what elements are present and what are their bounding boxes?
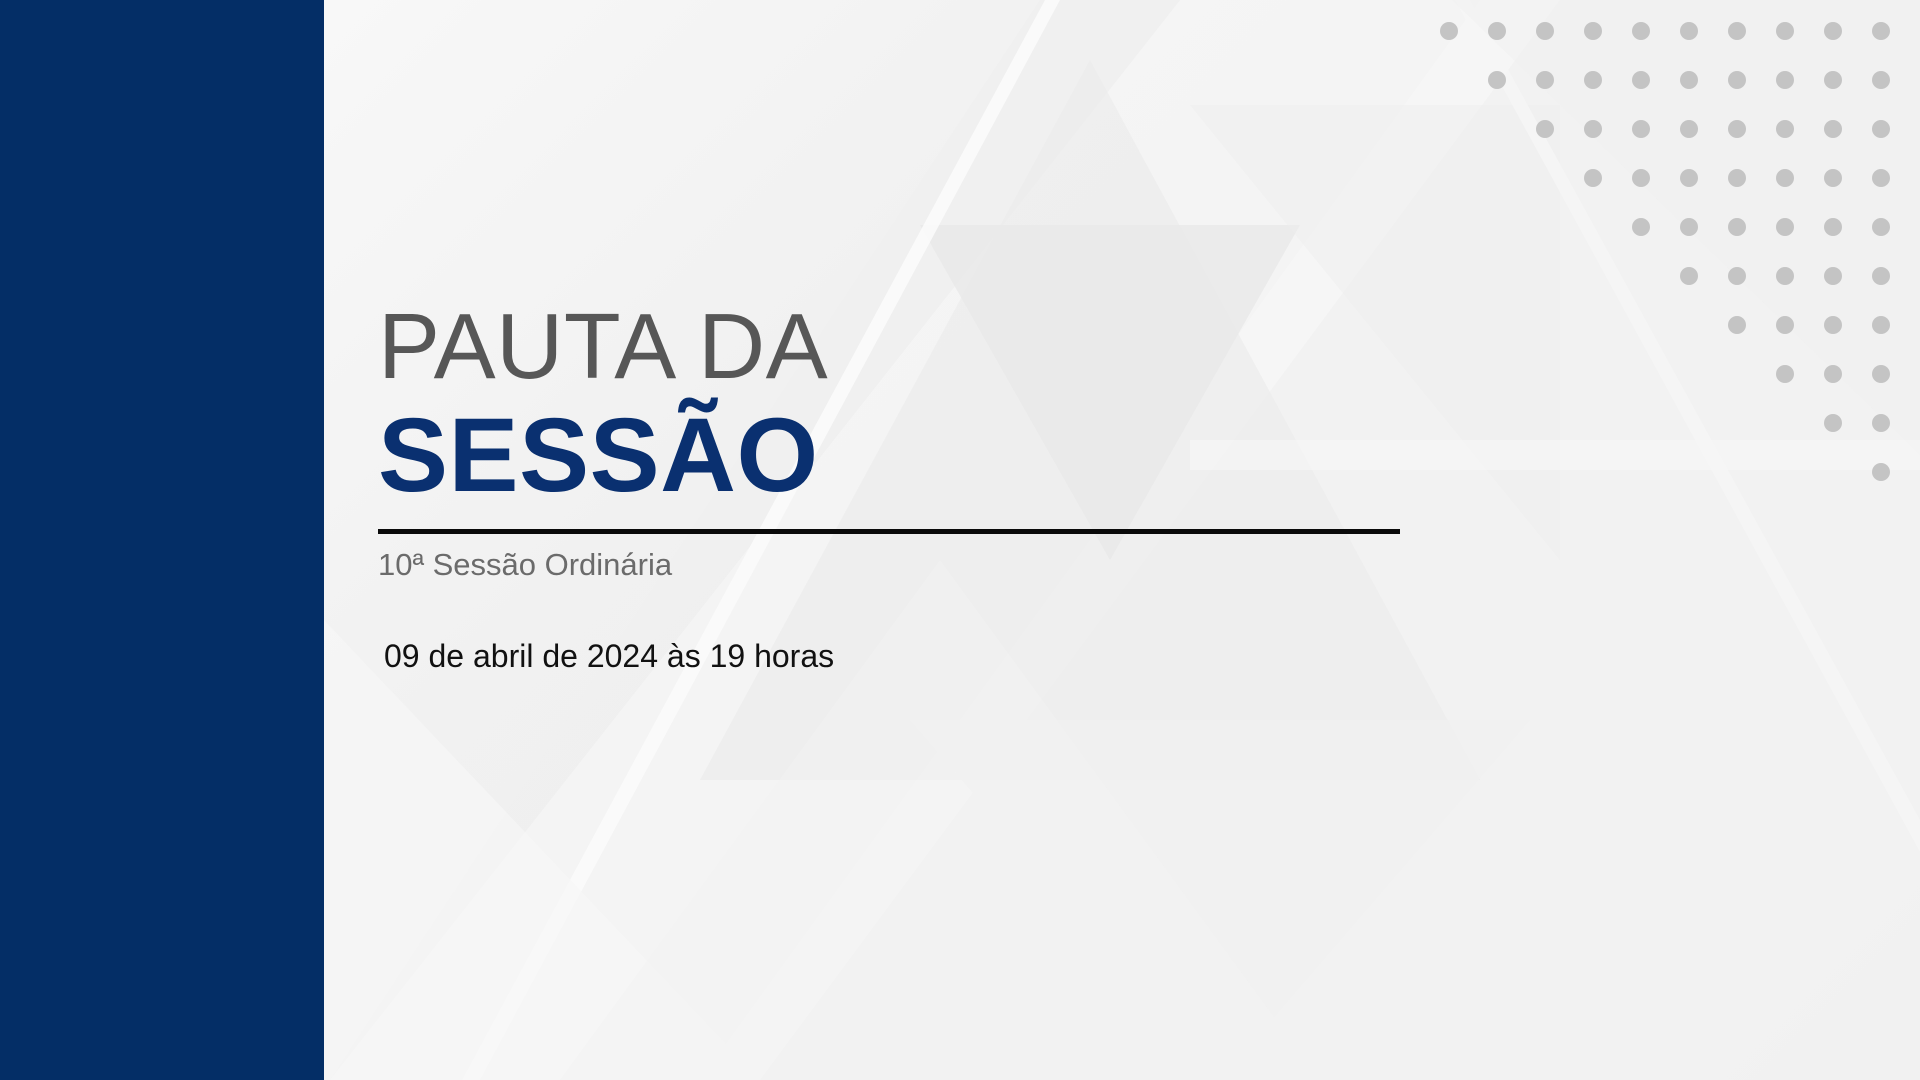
dot-grid-dot — [1728, 316, 1746, 334]
dot-grid-dot — [1872, 463, 1890, 481]
dot-grid-dot — [1728, 218, 1746, 236]
dot-grid-dot — [1824, 316, 1842, 334]
dot-grid-dot — [1728, 267, 1746, 285]
left-accent-bar — [0, 0, 324, 1080]
dot-grid-dot — [1872, 218, 1890, 236]
dot-grid-dot — [1824, 169, 1842, 187]
session-subtitle: 10ª Sessão Ordinária — [378, 546, 1438, 583]
dot-grid-dot — [1872, 71, 1890, 89]
dot-grid-dot — [1776, 316, 1794, 334]
dot-grid-dot — [1872, 316, 1890, 334]
dot-grid-dot — [1632, 22, 1650, 40]
dot-grid-dot — [1872, 22, 1890, 40]
dot-grid-dot — [1776, 71, 1794, 89]
dot-grid-dot — [1728, 169, 1746, 187]
dot-grid-dot — [1824, 414, 1842, 432]
dot-grid-dot — [1584, 71, 1602, 89]
dot-grid-dot — [1776, 120, 1794, 138]
dot-grid-dot — [1776, 218, 1794, 236]
dot-grid-dot — [1872, 414, 1890, 432]
dot-grid-dot — [1872, 120, 1890, 138]
title-divider — [378, 529, 1400, 534]
dot-grid-dot — [1680, 71, 1698, 89]
dot-grid-dot — [1872, 365, 1890, 383]
dot-grid-dot — [1584, 120, 1602, 138]
dot-grid-dot — [1872, 267, 1890, 285]
dot-grid-dot — [1488, 22, 1506, 40]
dot-grid-dot — [1680, 22, 1698, 40]
dot-grid-decoration — [1440, 22, 1920, 492]
dot-grid-dot — [1776, 22, 1794, 40]
dot-grid-dot — [1536, 120, 1554, 138]
dot-grid-dot — [1680, 267, 1698, 285]
dot-grid-dot — [1776, 169, 1794, 187]
dot-grid-dot — [1872, 169, 1890, 187]
dot-grid-dot — [1824, 71, 1842, 89]
dot-grid-dot — [1632, 71, 1650, 89]
slide-content: PAUTA DA SESSÃO 10ª Sessão Ordinária 09 … — [378, 300, 1438, 676]
dot-grid-dot — [1728, 71, 1746, 89]
dot-grid-dot — [1536, 71, 1554, 89]
dot-grid-dot — [1632, 169, 1650, 187]
page-title-primary: PAUTA DA — [378, 300, 1438, 393]
dot-grid-dot — [1536, 22, 1554, 40]
dot-grid-dot — [1680, 169, 1698, 187]
dot-grid-dot — [1632, 218, 1650, 236]
pauta-da-sessao-slide: PAUTA DA SESSÃO 10ª Sessão Ordinária 09 … — [0, 0, 1920, 1080]
dot-grid-dot — [1824, 22, 1842, 40]
dot-grid-dot — [1632, 120, 1650, 138]
session-datetime: 09 de abril de 2024 às 19 horas — [384, 637, 1438, 675]
page-title-accent: SESSÃO — [378, 401, 1438, 511]
dot-grid-dot — [1488, 71, 1506, 89]
dot-grid-dot — [1440, 22, 1458, 40]
dot-grid-dot — [1824, 365, 1842, 383]
dot-grid-dot — [1680, 218, 1698, 236]
dot-grid-dot — [1728, 120, 1746, 138]
dot-grid-dot — [1824, 120, 1842, 138]
dot-grid-dot — [1824, 218, 1842, 236]
dot-grid-dot — [1680, 120, 1698, 138]
dot-grid-dot — [1776, 267, 1794, 285]
dot-grid-dot — [1584, 169, 1602, 187]
dot-grid-dot — [1728, 22, 1746, 40]
dot-grid-dot — [1824, 267, 1842, 285]
dot-grid-dot — [1584, 22, 1602, 40]
dot-grid-dot — [1776, 365, 1794, 383]
